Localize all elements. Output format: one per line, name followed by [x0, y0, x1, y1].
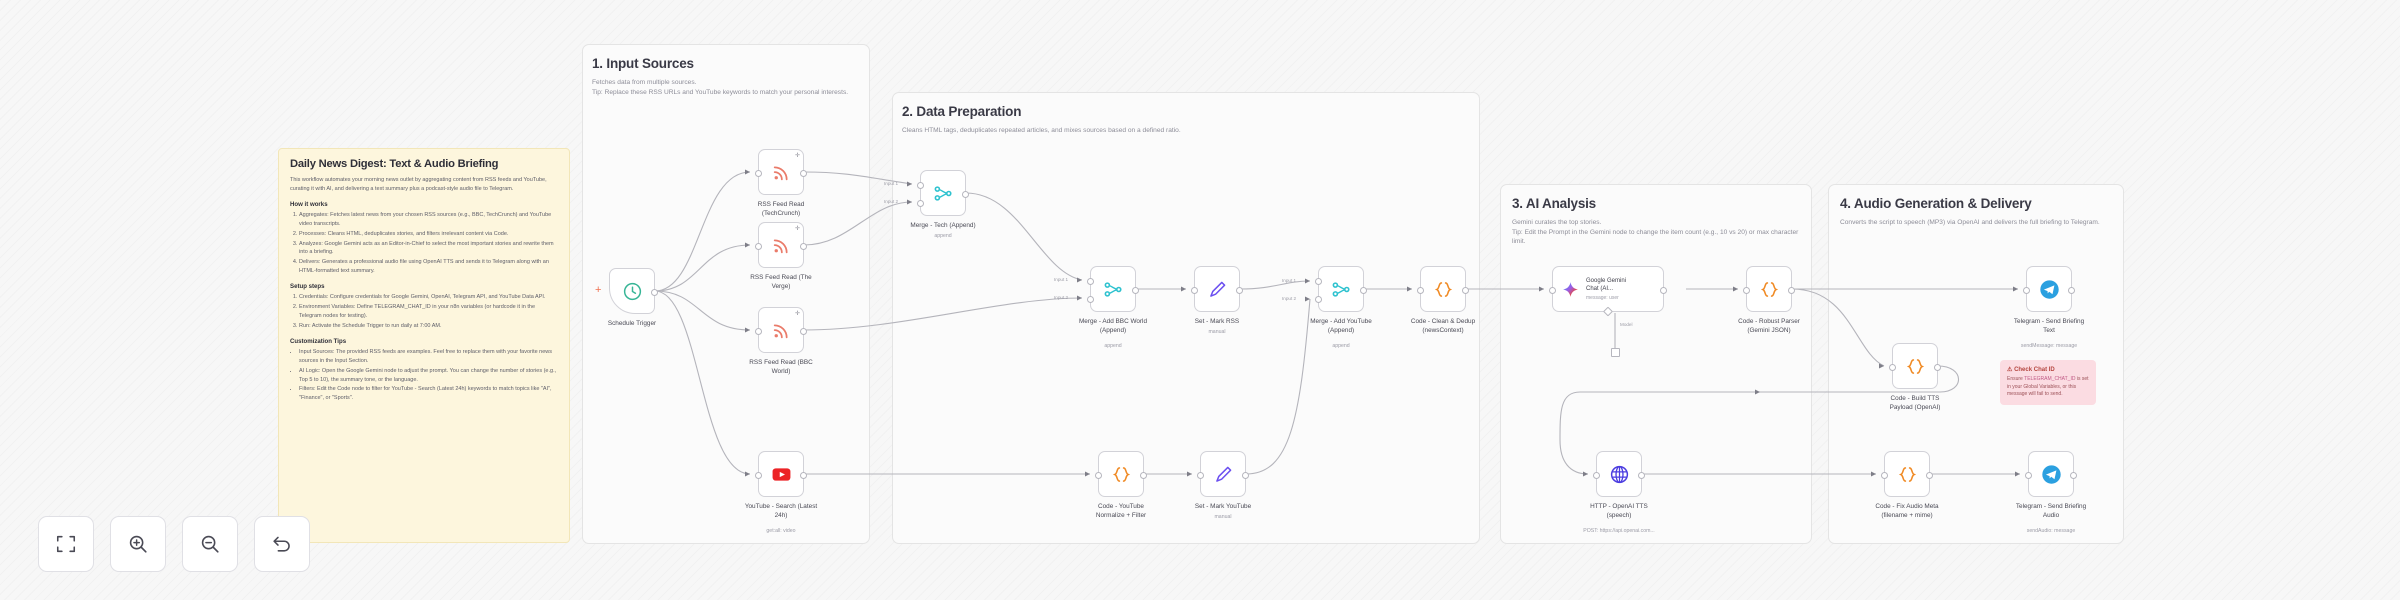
section-subtitle-1: Fetches data from multiple sources. Tip:… [592, 78, 854, 97]
node-label: Code - Build TTS Payload (OpenAI) [1855, 394, 1975, 412]
input-port[interactable] [1593, 472, 1600, 479]
section-subtitle-4: Converts the script to speech (MP3) via … [1840, 218, 2112, 228]
port-label-input1: Input 1 [1282, 278, 1296, 283]
node-label: Code - Robust Parser (Gemini JSON) [1709, 317, 1829, 335]
list-item: Aggregates: Fetches latest news from you… [299, 211, 558, 229]
output-port[interactable] [2068, 287, 2075, 294]
sticky-note-how-list: Aggregates: Fetches latest news from you… [299, 211, 558, 276]
merge-icon [933, 183, 954, 204]
node-label: Code - Clean & Dedup (newsContext) [1383, 317, 1503, 335]
add-node-plus-icon[interactable]: + [595, 285, 601, 296]
pencil-icon [1213, 464, 1234, 485]
node-subtitle: manual [1158, 514, 1288, 520]
node-code-build-tts-payload[interactable]: Code - Build TTS Payload (OpenAI) [1892, 343, 1938, 389]
output-port[interactable] [1140, 472, 1147, 479]
section-subtitle-3: Gemini curates the top stories. Tip: Edi… [1512, 218, 1802, 247]
list-item: Filters: Edit the Code node to filter fo… [299, 385, 558, 403]
zoom-in-button[interactable] [110, 516, 166, 572]
node-telegram-send-audio[interactable]: Telegram - Send Briefing Audio sendAudio… [2028, 451, 2074, 497]
rss-icon [771, 162, 792, 183]
warning-title: ⚠ Check Chat ID [2007, 366, 2089, 373]
output-port[interactable] [800, 472, 807, 479]
node-label: Telegram - Send Briefing Text [1989, 317, 2109, 335]
node-rss-techcrunch[interactable]: ✛ RSS Feed Read (TechCrunch) [758, 149, 804, 195]
node-merge-youtube[interactable]: Merge - Add YouTube (Append) append [1318, 266, 1364, 312]
output-port[interactable] [1242, 472, 1249, 479]
output-port[interactable] [962, 191, 969, 198]
node-subtitle: manual [1152, 329, 1282, 335]
input-port[interactable] [755, 472, 762, 479]
node-http-openai-tts[interactable]: HTTP - OpenAI TTS (speech) POST: https:/… [1596, 451, 1642, 497]
code-icon [1433, 279, 1454, 300]
node-set-mark-rss[interactable]: Set - Mark RSS manual [1194, 266, 1240, 312]
merge-icon [1331, 279, 1352, 300]
globe-icon [1609, 464, 1630, 485]
input-port[interactable] [1095, 472, 1102, 479]
output-port[interactable] [1934, 364, 1941, 371]
output-port[interactable] [1788, 287, 1795, 294]
node-subtitle: get:all: video [716, 528, 846, 534]
input-port[interactable] [1191, 287, 1198, 294]
port-label-input2: Input 2 [1054, 295, 1068, 300]
clock-icon [622, 281, 643, 302]
warning-title-text: Check Chat ID [2014, 367, 2055, 373]
output-port[interactable] [1132, 287, 1139, 294]
node-subtitle: append [878, 233, 1008, 239]
telegram-icon [2039, 279, 2060, 300]
rss-icon [771, 320, 792, 341]
youtube-icon [771, 464, 792, 485]
node-label: RSS Feed Read (The Verge) [721, 273, 841, 291]
undo-icon [271, 533, 293, 555]
input-port[interactable] [755, 243, 762, 250]
canvas-toolbar [38, 516, 310, 572]
list-item: Environment Variables: Define TELEGRAM_C… [299, 303, 558, 321]
sticky-note-intro: This workflow automates your morning new… [290, 176, 558, 194]
output-port[interactable] [800, 243, 807, 250]
section-title-2: 2. Data Preparation [902, 104, 1021, 119]
warning-body-prefix: Ensure [2007, 376, 2024, 382]
node-label: HTTP - OpenAI TTS (speech) [1559, 502, 1679, 520]
output-port[interactable] [2070, 472, 2077, 479]
node-merge-tech[interactable]: Merge - Tech (Append) append [920, 170, 966, 216]
node-code-clean-dedup[interactable]: Code - Clean & Dedup (newsContext) [1420, 266, 1466, 312]
list-item: Delivers: Generates a professional audio… [299, 258, 558, 276]
pencil-icon [1207, 279, 1228, 300]
list-item: AI Logic: Open the Google Gemini node to… [299, 367, 558, 385]
sticky-note-how-heading: How it works [290, 201, 558, 208]
node-label: Google Gemini Chat (AI... [1586, 277, 1626, 293]
node-label: RSS Feed Read (TechCrunch) [721, 200, 841, 218]
input-port[interactable] [1743, 287, 1750, 294]
sticky-note-tips-list: Input Sources: The provided RSS feeds ar… [299, 348, 558, 403]
node-telegram-send-text[interactable]: Telegram - Send Briefing Text sendMessag… [2026, 266, 2072, 312]
node-subtitle: message: user [1586, 295, 1626, 301]
node-set-mark-youtube[interactable]: Set - Mark YouTube manual [1200, 451, 1246, 497]
port-label-model: Model [1620, 322, 1633, 327]
node-label: Code - Fix Audio Meta (filename + mime) [1847, 502, 1967, 520]
list-item: Analyzes: Google Gemini acts as an Edito… [299, 240, 558, 258]
zoom-in-icon [127, 533, 149, 555]
node-rss-bbc-world[interactable]: ✛ RSS Feed Read (BBC World) [758, 307, 804, 353]
section-subtitle-2: Cleans HTML tags, deduplicates repeated … [902, 126, 1422, 136]
node-label: RSS Feed Read (BBC World) [721, 358, 841, 376]
node-code-robust-parser[interactable]: Code - Robust Parser (Gemini JSON) [1746, 266, 1792, 312]
list-item: Processes: Cleans HTML, deduplicates sto… [299, 230, 558, 239]
zoom-out-icon [199, 533, 221, 555]
list-item: Credentials: Configure credentials for G… [299, 293, 558, 302]
node-subtitle: sendMessage: message [1984, 343, 2114, 349]
section-title-1: 1. Input Sources [592, 56, 694, 71]
input-port-1[interactable] [917, 182, 924, 189]
workflow-canvas[interactable]: 1. Input Sources Fetches data from multi… [0, 0, 2400, 600]
node-merge-bbc-world[interactable]: Merge - Add BBC World (Append) append [1090, 266, 1136, 312]
input-port[interactable] [1881, 472, 1888, 479]
node-subtitle: sendAudio: message [1986, 528, 2116, 534]
node-code-fix-audio-meta[interactable]: Code - Fix Audio Meta (filename + mime) [1884, 451, 1930, 497]
node-label: Telegram - Send Briefing Audio [1991, 502, 2111, 520]
node-youtube-search[interactable]: YouTube - Search (Latest 24h) get:all: v… [758, 451, 804, 497]
node-google-gemini-chat[interactable]: Google Gemini Chat (AI... message: user [1552, 266, 1664, 312]
output-port[interactable] [651, 289, 658, 296]
node-subtitle: POST: https://api.openai.com... [1554, 528, 1684, 534]
reset-zoom-button[interactable] [254, 516, 310, 572]
zoom-out-button[interactable] [182, 516, 238, 572]
output-port[interactable] [800, 170, 807, 177]
model-sub-node-plus-icon[interactable] [1611, 348, 1620, 357]
node-code-youtube-normalize[interactable]: Code - YouTube Normalize + Filter [1098, 451, 1144, 497]
output-port[interactable] [1926, 472, 1933, 479]
node-subtitle: append [1048, 343, 1178, 349]
sticky-note-tips-heading: Customization Tips [290, 338, 558, 345]
node-label: Schedule Trigger [572, 319, 692, 328]
input-port-2[interactable] [1315, 296, 1322, 303]
node-options-icon[interactable]: ✛ [795, 153, 800, 159]
output-port[interactable] [1638, 472, 1645, 479]
rss-icon [771, 235, 792, 256]
input-port[interactable] [755, 328, 762, 335]
input-port-1[interactable] [1315, 278, 1322, 285]
merge-icon [1103, 279, 1124, 300]
sticky-note-overview[interactable]: Daily News Digest: Text & Audio Briefing… [278, 148, 570, 543]
input-port[interactable] [1417, 287, 1424, 294]
output-port[interactable] [1462, 287, 1469, 294]
gemini-icon [1562, 281, 1579, 298]
node-rss-theverge[interactable]: ✛ RSS Feed Read (The Verge) [758, 222, 804, 268]
node-label: Set - Mark RSS [1157, 317, 1277, 326]
fit-view-icon [55, 533, 77, 555]
fit-view-button[interactable] [38, 516, 94, 572]
warning-icon: ⚠ [2007, 367, 2012, 373]
node-label: Set - Mark YouTube [1163, 502, 1283, 511]
input-port[interactable] [755, 170, 762, 177]
warning-body-code: TELEGRAM_CHAT_ID [2024, 376, 2075, 382]
input-port[interactable] [1197, 472, 1204, 479]
node-label: Merge - Tech (Append) [883, 221, 1003, 230]
section-title-3: 3. AI Analysis [1512, 196, 1596, 211]
input-port-2[interactable] [1087, 296, 1094, 303]
output-port[interactable] [1360, 287, 1367, 294]
node-label: YouTube - Search (Latest 24h) [721, 502, 841, 520]
code-icon [1111, 464, 1132, 485]
node-options-icon[interactable]: ✛ [795, 226, 800, 232]
input-port[interactable] [2023, 287, 2030, 294]
sticky-note-setup-list: Credentials: Configure credentials for G… [299, 293, 558, 331]
port-label-input1: Input 1 [884, 181, 898, 186]
port-label-input1: Input 1 [1054, 277, 1068, 282]
telegram-icon [2041, 464, 2062, 485]
node-subtitle: append [1276, 343, 1406, 349]
warning-body: Ensure TELEGRAM_CHAT_ID is set in your G… [2007, 376, 2089, 399]
code-icon [1897, 464, 1918, 485]
input-port-2[interactable] [917, 200, 924, 207]
output-port[interactable] [1660, 287, 1667, 294]
input-port[interactable] [1549, 287, 1556, 294]
port-label-input2: Input 2 [884, 199, 898, 204]
port-label-input2: Input 2 [1282, 296, 1296, 301]
section-title-4: 4. Audio Generation & Delivery [1840, 196, 2032, 211]
list-item: Run: Activate the Schedule Trigger to ru… [299, 322, 558, 331]
sticky-note-setup-heading: Setup steps [290, 283, 558, 290]
input-port[interactable] [1889, 364, 1896, 371]
code-icon [1905, 356, 1926, 377]
output-port[interactable] [800, 328, 807, 335]
sticky-note-title: Daily News Digest: Text & Audio Briefing [290, 158, 558, 170]
list-item: Input Sources: The provided RSS feeds ar… [299, 348, 558, 366]
node-options-icon[interactable]: ✛ [795, 311, 800, 317]
input-port[interactable] [2025, 472, 2032, 479]
output-port[interactable] [1236, 287, 1243, 294]
warning-callout-chat-id[interactable]: ⚠ Check Chat ID Ensure TELEGRAM_CHAT_ID … [2000, 360, 2096, 405]
code-icon [1759, 279, 1780, 300]
input-port-1[interactable] [1087, 278, 1094, 285]
